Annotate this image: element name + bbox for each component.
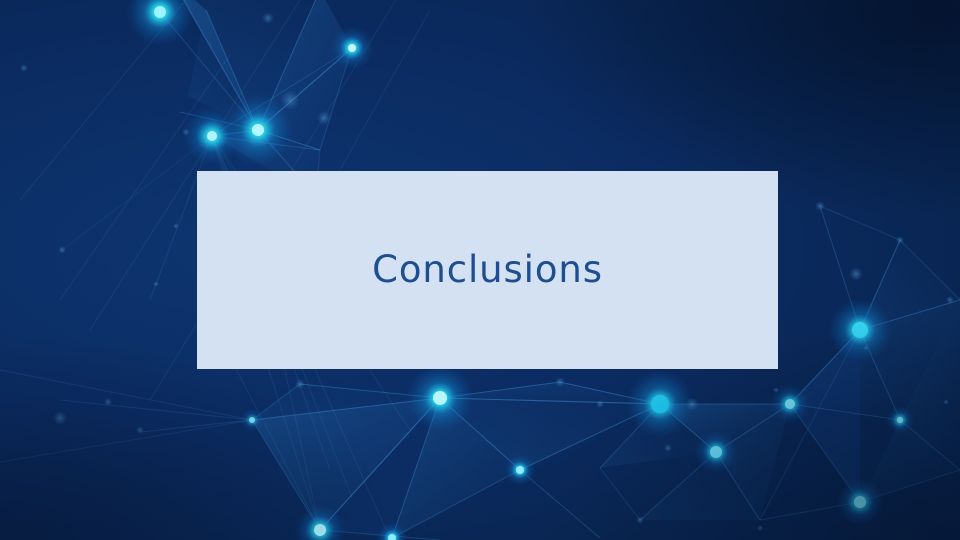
slide-title: Conclusions — [372, 251, 603, 288]
title-card: Conclusions — [197, 171, 778, 369]
presentation-slide: Conclusions — [0, 0, 960, 540]
